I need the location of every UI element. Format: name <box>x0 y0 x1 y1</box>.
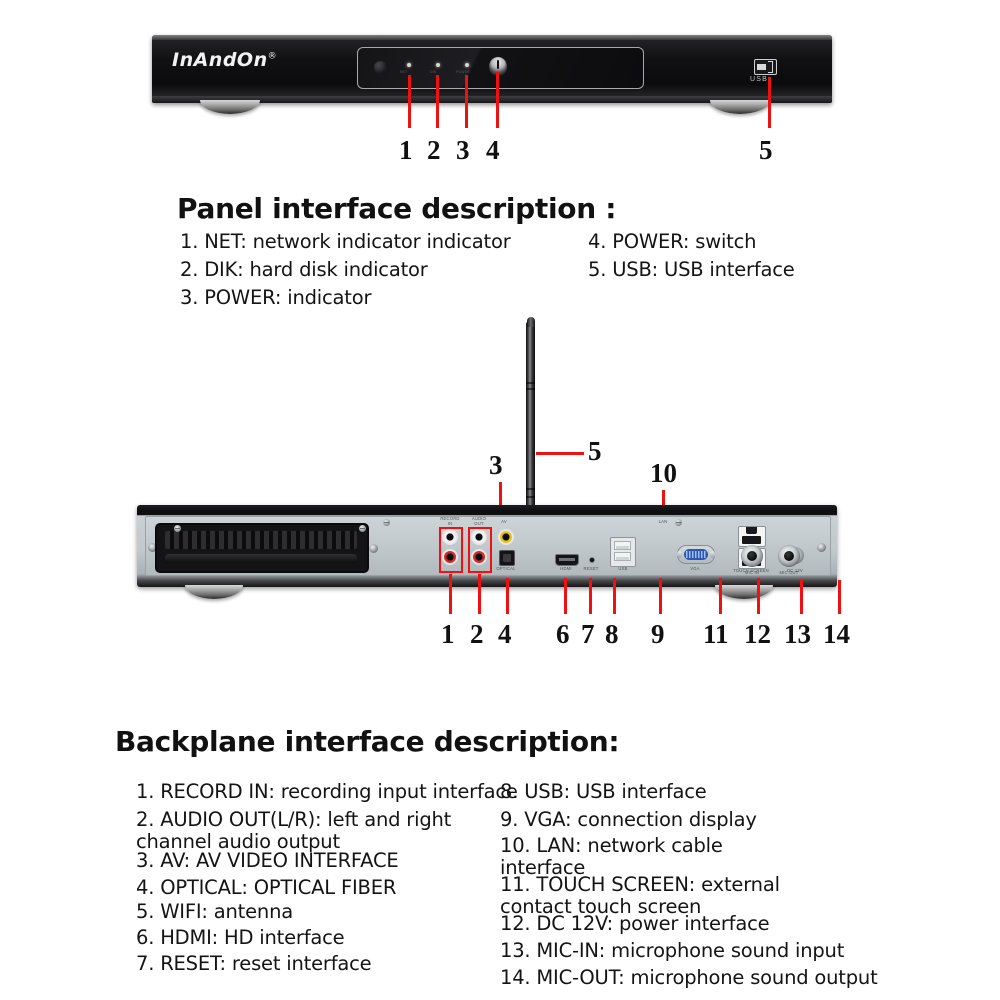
lan-port-label: LAN <box>653 519 673 524</box>
backplane-item-13: 13. MIC-IN: microphone sound input <box>500 940 844 962</box>
panel-item-2: 2. DIK: hard disk indicator <box>180 259 428 281</box>
front-callout-2: 2 <box>427 137 441 164</box>
back-callout-6: 6 <box>556 621 570 648</box>
record-in-port-label: RECORD IN <box>437 517 463 526</box>
usb-port-upper[interactable] <box>614 541 631 550</box>
vga-port[interactable] <box>677 545 715 564</box>
mic-out-jack[interactable] <box>778 545 800 567</box>
back-callout-1: 1 <box>441 621 455 648</box>
front-usb-port-icon[interactable] <box>754 59 777 75</box>
av-port-label: AV <box>494 519 514 524</box>
back-callout-4: 4 <box>498 621 512 648</box>
back-leader-7 <box>589 578 592 614</box>
back-callout-2: 2 <box>470 621 484 648</box>
backplane-item-8: 8. USB: USB interface <box>500 781 707 803</box>
back-foot-right <box>715 585 773 599</box>
optical-port-label: OPTICAL <box>490 566 522 571</box>
vent-grille-panel <box>155 523 369 573</box>
back-callout-3: 3 <box>489 452 503 479</box>
back-leader-9 <box>659 578 662 614</box>
front-foot-right <box>710 100 770 114</box>
back-leader-11 <box>719 578 722 614</box>
vga-screw-left <box>677 551 682 558</box>
disk-led-indicator <box>436 63 440 67</box>
back-leader-6 <box>564 578 567 614</box>
back-callout-13: 13 <box>784 621 811 648</box>
backplane-item-3: 3. AV: AV VIDEO INTERFACE <box>136 850 399 872</box>
front-callout-1: 1 <box>399 137 413 164</box>
net-led-label: NET <box>400 70 407 74</box>
ir-receiver-icon <box>374 61 387 74</box>
grille-knob <box>369 544 378 553</box>
antenna-ring-1 <box>526 382 535 384</box>
diagram-canvas: InAndOn® NET DIK POWER USB 1 2 3 4 5 Pan… <box>0 0 1000 1000</box>
lan-rj45-port[interactable] <box>738 526 766 547</box>
audio-out-port-label: AUDIO OUT <box>466 517 492 526</box>
vent-grille-slots <box>165 531 357 549</box>
plate-screw-top-right <box>675 519 682 526</box>
brand-logo: InAndOn® <box>172 49 277 71</box>
backplane-section-title: Backplane interface description: <box>115 725 619 758</box>
front-callout-4: 4 <box>486 137 500 164</box>
usb-port-label: USB <box>612 566 634 571</box>
vga-connector-body <box>684 549 708 560</box>
backplane-item-2: 2. AUDIO OUT(L/R): left and right channe… <box>136 809 451 853</box>
mic-in-jack[interactable] <box>741 545 763 567</box>
brand-name: InAndOn <box>172 49 268 71</box>
back-leader-4 <box>506 578 509 614</box>
front-panel-device: InAndOn® NET DIK POWER USB <box>152 35 832 103</box>
back-leader-14 <box>838 580 841 614</box>
usb-port-lower[interactable] <box>614 552 631 561</box>
backplane-item-14: 14. MIC-OUT: microphone sound output <box>500 967 878 989</box>
antenna-ring-3 <box>526 488 535 490</box>
vga-screw-right <box>710 551 715 558</box>
back-callout-12: 12 <box>744 621 771 648</box>
antenna-ring-2 <box>526 388 535 390</box>
back-callout-14: 14 <box>823 621 850 648</box>
back-leader-2 <box>478 574 481 614</box>
backplane-item-6: 6. HDMI: HD interface <box>136 927 344 949</box>
back-foot-left <box>185 585 243 599</box>
net-led-indicator <box>407 63 411 67</box>
lan-rj45-mouth <box>742 536 761 544</box>
back-callout-7: 7 <box>581 621 595 648</box>
vent-grille-bar <box>165 554 357 563</box>
antenna-ring-4 <box>526 496 535 498</box>
mic-in-label: MIC IN <box>737 570 767 575</box>
back-callout-11: 11 <box>703 621 729 648</box>
front-leader-3 <box>465 75 468 128</box>
backplane-item-9: 9. VGA: connection display <box>500 809 757 831</box>
back-leader-1 <box>449 574 452 614</box>
brand-trademark-mark: ® <box>268 52 278 62</box>
front-leader-5 <box>768 77 771 128</box>
hdmi-port[interactable] <box>555 554 579 566</box>
back-callout-5: 5 <box>588 438 602 465</box>
back-callout-8: 8 <box>605 621 619 648</box>
disk-led-label: DIK <box>430 70 436 74</box>
power-led-label: POWER <box>456 70 470 74</box>
back-leader-5 <box>536 452 584 455</box>
power-led-indicator <box>465 63 469 67</box>
front-leader-4 <box>496 72 499 128</box>
plate-screw-right <box>817 543 826 552</box>
front-top-gloss <box>152 35 832 40</box>
panel-section-title: Panel interface description : <box>177 192 616 225</box>
grille-screw-left <box>174 525 181 532</box>
reset-port-label: RESET <box>580 566 602 571</box>
backplane-item-7: 7. RESET: reset interface <box>136 953 371 975</box>
antenna-tip <box>527 317 535 327</box>
panel-item-4: 4. POWER: switch <box>588 231 756 253</box>
antenna-rod <box>526 320 535 535</box>
front-leader-1 <box>408 75 411 128</box>
front-callout-5: 5 <box>759 137 773 164</box>
av-video-jack[interactable] <box>498 529 514 545</box>
panel-item-5: 5. USB: USB interface <box>588 259 795 281</box>
reset-pinhole[interactable] <box>589 557 595 563</box>
optical-spdif-port[interactable] <box>499 550 515 566</box>
record-in-highlight-box <box>439 527 463 573</box>
mic-out-label: MIC OUT <box>773 570 805 575</box>
backplane-item-1: 1. RECORD IN: recording input interface <box>136 781 518 803</box>
backplane-item-5: 5. WIFI: antenna <box>136 901 293 923</box>
front-callout-3: 3 <box>456 137 470 164</box>
front-foot-left <box>200 100 260 114</box>
hdmi-port-label: HDMI <box>555 566 577 571</box>
audio-out-highlight-box <box>468 527 492 573</box>
usb-port-stack[interactable] <box>610 537 636 567</box>
wifi-antenna <box>524 320 537 535</box>
backplane-item-12: 12. DC 12V: power interface <box>500 913 769 935</box>
backplane-item-4: 4. OPTICAL: OPTICAL FIBER <box>136 877 396 899</box>
back-leader-8 <box>613 578 616 614</box>
back-leader-13 <box>800 580 803 614</box>
plate-screw-top-center <box>383 519 390 526</box>
back-callout-10: 10 <box>650 460 677 487</box>
front-leader-2 <box>436 75 439 128</box>
panel-item-1: 1. NET: network indicator indicator <box>180 231 511 253</box>
panel-item-3: 3. POWER: indicator <box>180 287 371 309</box>
vga-port-label: VGA <box>685 566 705 571</box>
back-callout-9: 9 <box>651 621 665 648</box>
grille-screw-right <box>359 525 366 532</box>
back-leader-12 <box>757 578 760 614</box>
front-usb-label: USB <box>750 76 768 83</box>
